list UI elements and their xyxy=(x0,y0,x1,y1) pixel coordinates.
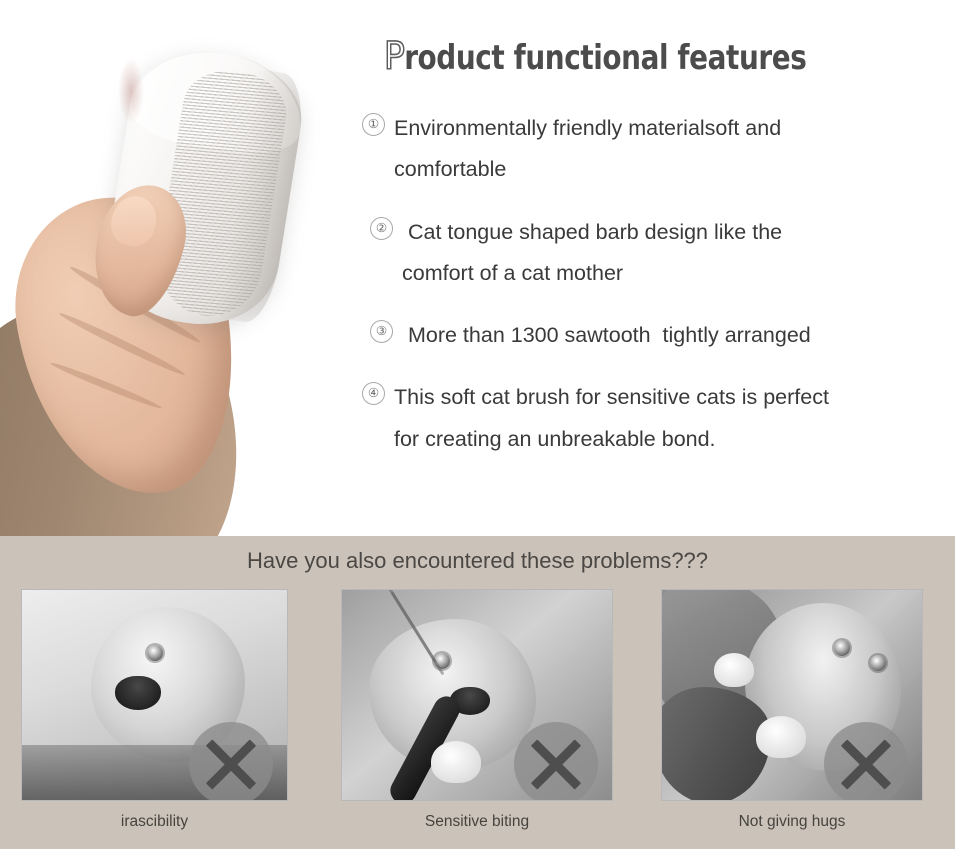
problem-caption-1: irascibility xyxy=(21,813,288,831)
feature-item: ③ More than 1300 sawtooth tightly arrang… xyxy=(370,315,952,356)
cat-dark-marking xyxy=(661,687,771,801)
feature-text-4: This soft cat brush for sensitive cats i… xyxy=(394,377,919,460)
problems-heading: Have you also encountered these problems… xyxy=(0,548,955,574)
cat-paw xyxy=(756,716,806,758)
problem-caption-3: Not giving hugs xyxy=(661,813,923,831)
x-mark-badge xyxy=(824,722,908,801)
title-rest: roduct functional features xyxy=(404,38,806,78)
problem-card-2: Sensitive biting xyxy=(341,589,613,801)
feature-item: ④ This soft cat brush for sensitive cats… xyxy=(362,377,952,460)
feature-number-4: ④ xyxy=(362,382,385,405)
feature-number-3: ③ xyxy=(370,320,393,343)
cat-eye xyxy=(147,645,163,661)
cat-photo-biting xyxy=(341,589,613,801)
product-infographic: Product functional features ① Environmen… xyxy=(0,0,955,849)
product-photo-hand-holding-brush xyxy=(0,0,345,536)
cat-paw xyxy=(431,741,481,783)
feature-text-1: Environmentally friendly materialsoft an… xyxy=(394,108,884,191)
x-mark-badge xyxy=(514,722,598,801)
cat-eye xyxy=(834,640,850,656)
page-title: Product functional features xyxy=(385,34,806,78)
features-copy: Product functional features ① Environmen… xyxy=(360,0,955,536)
brush-highlight xyxy=(118,58,144,124)
problem-photo-row: irascibility Sensitive biting xyxy=(0,589,955,804)
title-initial-letter: P xyxy=(384,34,405,78)
cat-eye xyxy=(870,655,886,671)
cat-paw xyxy=(714,653,754,687)
problem-card-3: Not giving hugs xyxy=(661,589,923,801)
cat-open-mouth xyxy=(115,676,161,710)
feature-item: ② Cat tongue shaped barb design like the… xyxy=(370,212,952,295)
cat-photo-resisting-hug xyxy=(661,589,923,801)
problems-panel: Have you also encountered these problems… xyxy=(0,536,955,849)
feature-list: ① Environmentally friendly materialsoft … xyxy=(362,108,952,481)
feature-item: ① Environmentally friendly materialsoft … xyxy=(362,108,952,191)
feature-number-1: ① xyxy=(362,113,385,136)
x-mark-badge xyxy=(189,722,273,801)
feature-text-3: More than 1300 sawtooth tightly arranged xyxy=(402,315,952,356)
problem-caption-2: Sensitive biting xyxy=(341,813,613,831)
feature-text-2: Cat tongue shaped barb design like the c… xyxy=(402,212,872,295)
problem-card-1: irascibility xyxy=(21,589,288,801)
feature-number-2: ② xyxy=(370,217,393,240)
cat-photo-hissing xyxy=(21,589,288,801)
features-panel: Product functional features ① Environmen… xyxy=(0,0,955,536)
